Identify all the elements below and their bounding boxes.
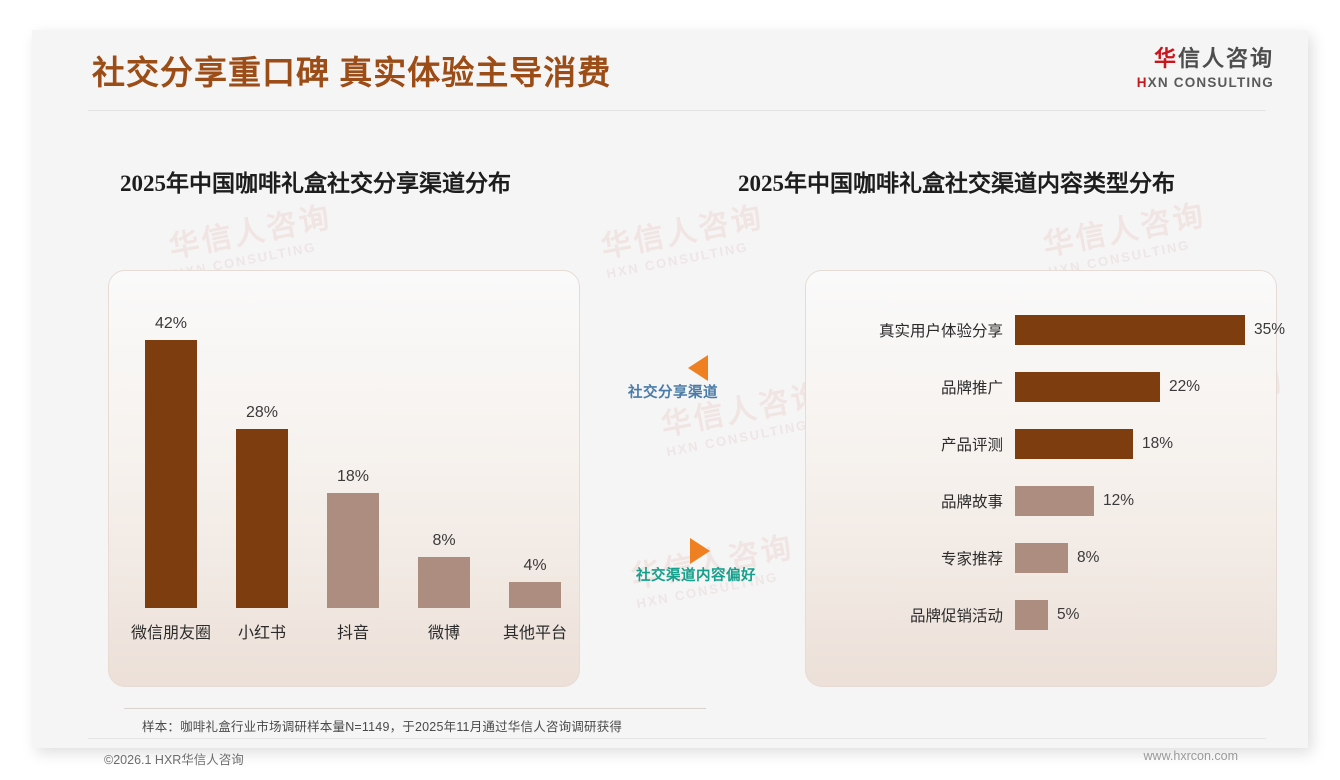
- slide-header: 社交分享重口碑 真实体验主导消费 华信人咨询 HXN CONSULTING: [32, 30, 1308, 108]
- bar-value-label: 8%: [432, 532, 455, 550]
- annotation-top: 社交分享渠道: [628, 355, 718, 402]
- bar-row: 产品评测18%: [1015, 429, 1255, 459]
- bar: [1015, 372, 1160, 402]
- left-chart-panel: 42%微信朋友圈28%小红书18%抖音8%微博4%其他平台: [108, 270, 580, 687]
- logo-english: HXN CONSULTING: [1137, 76, 1274, 90]
- bar-value-label: 35%: [1254, 321, 1285, 339]
- bar-column: 4%其他平台: [509, 582, 561, 608]
- bar: [1015, 486, 1094, 516]
- bar-value-label: 42%: [155, 315, 187, 333]
- bar: [236, 429, 288, 608]
- bar-category-label: 抖音: [337, 619, 369, 643]
- copyright-text: ©2026.1 HXR华信人咨询: [104, 749, 244, 768]
- bar-category-label: 品牌推广: [941, 376, 1003, 398]
- bar-category-label: 产品评测: [941, 433, 1003, 455]
- bar: [1015, 315, 1245, 345]
- watermark: 华信人咨询 HXN CONSULTING: [1041, 201, 1212, 280]
- bar-value-label: 22%: [1169, 378, 1200, 396]
- bar: [327, 493, 379, 608]
- bar: [1015, 543, 1068, 573]
- bar-value-label: 18%: [337, 468, 369, 486]
- watermark-en: HXN CONSULTING: [605, 235, 770, 281]
- note-divider: [124, 708, 706, 709]
- bar-row: 品牌推广22%: [1015, 372, 1255, 402]
- watermark: 华信人咨询 HXN CONSULTING: [599, 203, 770, 282]
- bar-row: 品牌故事12%: [1015, 486, 1255, 516]
- slide-root: 社交分享重口碑 真实体验主导消费 华信人咨询 HXN CONSULTING 20…: [0, 0, 1340, 780]
- bar: [509, 582, 561, 608]
- bar-row: 专家推荐8%: [1015, 543, 1255, 573]
- logo-english-rest: XN CONSULTING: [1148, 75, 1274, 90]
- bar-category-label: 真实用户体验分享: [879, 319, 1003, 341]
- bar: [145, 340, 197, 608]
- watermark-cn: 华信人咨询: [1041, 201, 1209, 262]
- bar-category-label: 专家推荐: [941, 547, 1003, 569]
- bar-category-label: 小红书: [238, 619, 286, 643]
- bar-category-label: 品牌故事: [941, 490, 1003, 512]
- bar-value-label: 8%: [1077, 549, 1099, 567]
- horizontal-bar-chart: 真实用户体验分享35%品牌推广22%产品评测18%品牌故事12%专家推荐8%品牌…: [1015, 315, 1255, 645]
- annotation-bottom-label: 社交渠道内容偏好: [636, 564, 756, 585]
- bar-category-label: 其他平台: [503, 619, 567, 643]
- bar-column: 42%微信朋友圈: [145, 340, 197, 608]
- bar-row: 真实用户体验分享35%: [1015, 315, 1255, 345]
- annotation-bottom: 社交渠道内容偏好: [628, 538, 756, 585]
- bar: [1015, 600, 1048, 630]
- bar-value-label: 28%: [246, 404, 278, 422]
- slide-card: 社交分享重口碑 真实体验主导消费 华信人咨询 HXN CONSULTING 20…: [32, 30, 1308, 748]
- triangle-left-icon: [688, 355, 708, 381]
- left-chart-title: 2025年中国咖啡礼盒社交分享渠道分布: [120, 164, 511, 198]
- annotation-top-label: 社交分享渠道: [628, 381, 718, 402]
- website-url: www.hxrcon.com: [1144, 749, 1238, 763]
- logo-chinese: 华信人咨询: [1137, 48, 1274, 70]
- bar-value-label: 4%: [523, 557, 546, 575]
- logo-chinese-rest: 信人咨询: [1178, 46, 1274, 71]
- right-chart-panel: 真实用户体验分享35%品牌推广22%产品评测18%品牌故事12%专家推荐8%品牌…: [805, 270, 1277, 687]
- triangle-right-icon: [690, 538, 710, 564]
- logo-chinese-highlight: 华: [1154, 46, 1178, 71]
- brand-logo: 华信人咨询 HXN CONSULTING: [1137, 48, 1274, 90]
- bar-value-label: 5%: [1057, 606, 1079, 624]
- right-chart-title: 2025年中国咖啡礼盒社交渠道内容类型分布: [738, 164, 1175, 198]
- bar-column: 18%抖音: [327, 493, 379, 608]
- watermark-cn: 华信人咨询: [167, 203, 335, 264]
- bar-value-label: 18%: [1142, 435, 1173, 453]
- header-divider: [88, 110, 1266, 111]
- sample-note: 样本：咖啡礼盒行业市场调研样本量N=1149，于2025年11月通过华信人咨询调…: [142, 716, 622, 735]
- watermark-cn: 华信人咨询: [599, 203, 767, 264]
- bar-column: 8%微博: [418, 557, 470, 608]
- bar-value-label: 12%: [1103, 492, 1134, 510]
- bar-category-label: 微信朋友圈: [131, 619, 211, 643]
- page-title: 社交分享重口碑 真实体验主导消费: [92, 46, 611, 94]
- bar-category-label: 品牌促销活动: [910, 604, 1003, 626]
- bar-category-label: 微博: [428, 619, 460, 643]
- bar: [1015, 429, 1133, 459]
- logo-english-highlight: H: [1137, 75, 1148, 90]
- footer-divider: [88, 738, 1266, 739]
- bar-row: 品牌促销活动5%: [1015, 600, 1255, 630]
- bar-column: 28%小红书: [236, 429, 288, 608]
- vertical-bar-chart: 42%微信朋友圈28%小红书18%抖音8%微博4%其他平台: [109, 271, 579, 686]
- bar: [418, 557, 470, 608]
